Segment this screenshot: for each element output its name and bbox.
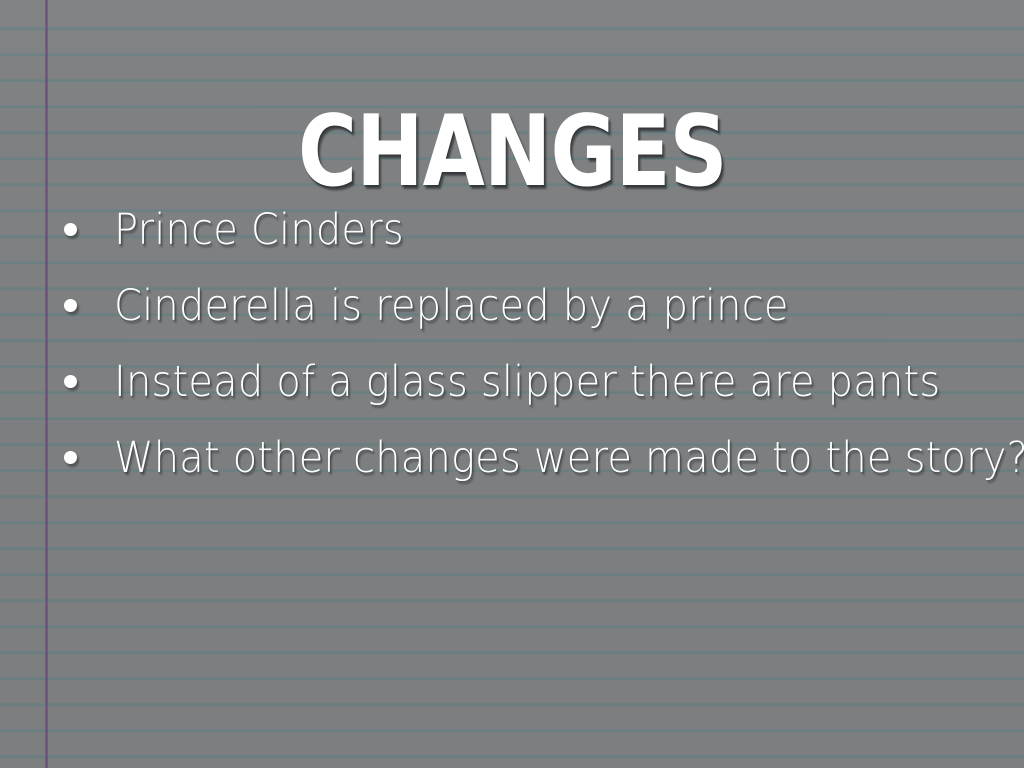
list-item: Prince Cinders [56,192,1008,268]
bullet-text: What other changes were made to the stor… [114,433,1024,483]
page-title: CHANGES [298,100,727,204]
presentation-slide: CHANGES Prince Cinders Cinderella is rep… [0,0,1024,768]
list-item: What other changes were made to the stor… [56,420,1008,496]
bullet-dot-icon [64,223,77,236]
bullet-text: Prince Cinders [114,205,404,255]
bullet-list: Prince Cinders Cinderella is replaced by… [56,192,1008,496]
bullet-text: Cinderella is replaced by a prince [114,281,789,331]
bullet-dot-icon [64,375,77,388]
list-item: Instead of a glass slipper there are pan… [56,344,1008,420]
bullet-dot-icon [64,299,77,312]
list-item: Cinderella is replaced by a prince [56,268,1008,344]
bullet-text: Instead of a glass slipper there are pan… [114,357,940,407]
bullet-dot-icon [64,451,77,464]
